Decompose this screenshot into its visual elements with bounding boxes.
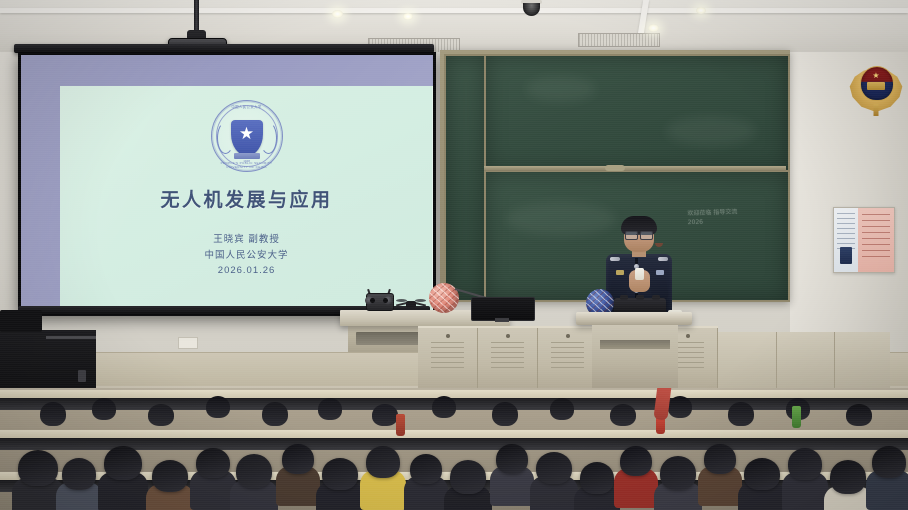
recessed-light [696,7,706,14]
student-head [580,462,614,494]
water-bottle [792,406,801,428]
left-monitor [0,310,42,332]
uniform-epaulette [658,257,668,261]
audience-seating [0,388,908,510]
desk-row [0,430,908,450]
student-head [872,446,906,478]
student-head [206,396,230,418]
student-head [536,452,572,484]
recessed-light [332,10,343,18]
slide-content-panel: 中国人民公安大学 1948 PEOPLE'S PUBLIC SECURITY U… [60,86,433,313]
slide-subtitle-block: 王晓宾 副教授 中国人民公安大学 2026.01.26 [205,232,289,280]
student-head [728,402,754,426]
projector-mount-pole [194,0,199,33]
student-head [148,404,174,426]
student-head [668,396,692,418]
student-head [788,448,822,480]
projection-screen: 中国人民公安大学 1948 PEOPLE'S PUBLIC SECURITY U… [18,52,436,316]
small-quadcopter [396,297,426,311]
student-head [830,460,866,494]
blackboard-chalk-note: 欢迎莅临 指导交流 2026 [687,207,752,251]
student-head [372,404,398,426]
cabinet-handle[interactable] [78,370,86,382]
monitor-stand [495,318,509,322]
student-head [450,460,486,494]
student-head [40,402,66,426]
water-bottle [396,414,405,436]
police-emblem-icon: ★ [848,52,904,114]
student-head [492,402,518,426]
student-head [62,458,96,490]
lectern-shelf [600,340,670,349]
student-head [610,404,636,426]
ceiling-beam [0,8,908,13]
slide-organization: 中国人民公安大学 [205,249,289,264]
student-head [550,398,574,420]
blackboard-panel-top [484,54,790,174]
emblem-text-top: 中国人民公安大学 [211,104,283,109]
lecture-hall-photo: 中国人民公安大学 1948 PEOPLE'S PUBLIC SECURITY U… [0,0,908,510]
student-head [620,446,652,476]
slide-date: 2026.01.26 [205,264,289,279]
student-head [846,404,872,426]
student-head [744,458,780,490]
lectern-top [576,312,692,325]
blackboard-slide-handle[interactable] [605,165,625,171]
student-head [262,402,288,426]
cabinet-edge [46,336,96,339]
blackboard-panel-left [444,54,488,302]
student-head [236,454,272,488]
student-head [282,444,314,474]
presentation-slide: 中国人民公安大学 1948 PEOPLE'S PUBLIC SECURITY U… [21,55,433,313]
student-head [104,446,142,480]
recessed-light [403,13,413,20]
student-head [704,444,736,474]
student-head [366,446,400,478]
student-head [152,460,188,492]
student-head [322,458,358,490]
blackboard-rail [484,166,786,171]
student-head [410,454,442,484]
student-head [432,396,456,418]
uniform-epaulette [610,257,620,261]
drone-controller [362,289,396,311]
recessed-light [648,24,659,32]
eyeglasses-icon [625,231,653,238]
slide-presenter: 王晓宾 副教授 [205,233,289,248]
student-head [318,398,342,420]
light-switch-plate[interactable] [178,337,198,349]
uniform-shoulder-badge [616,270,624,275]
ppsuc-emblem-icon: 中国人民公安大学 1948 PEOPLE'S PUBLIC SECURITY U… [211,100,283,172]
held-remote [635,268,644,280]
student-head [496,444,528,474]
student-head [196,448,230,478]
right-cabinet [718,332,890,388]
emblem-text-bottom: PEOPLE'S PUBLIC SECURITY UNIVERSITY OF C… [211,161,283,169]
uniform-chest-badge [656,270,664,275]
student-head [18,450,58,486]
lectern [592,325,678,388]
wall-notice-board[interactable] [833,207,895,273]
student-head [92,398,116,420]
slide-title: 无人机发展与应用 [161,185,333,212]
air-vent [578,33,660,47]
student-head [660,456,696,490]
